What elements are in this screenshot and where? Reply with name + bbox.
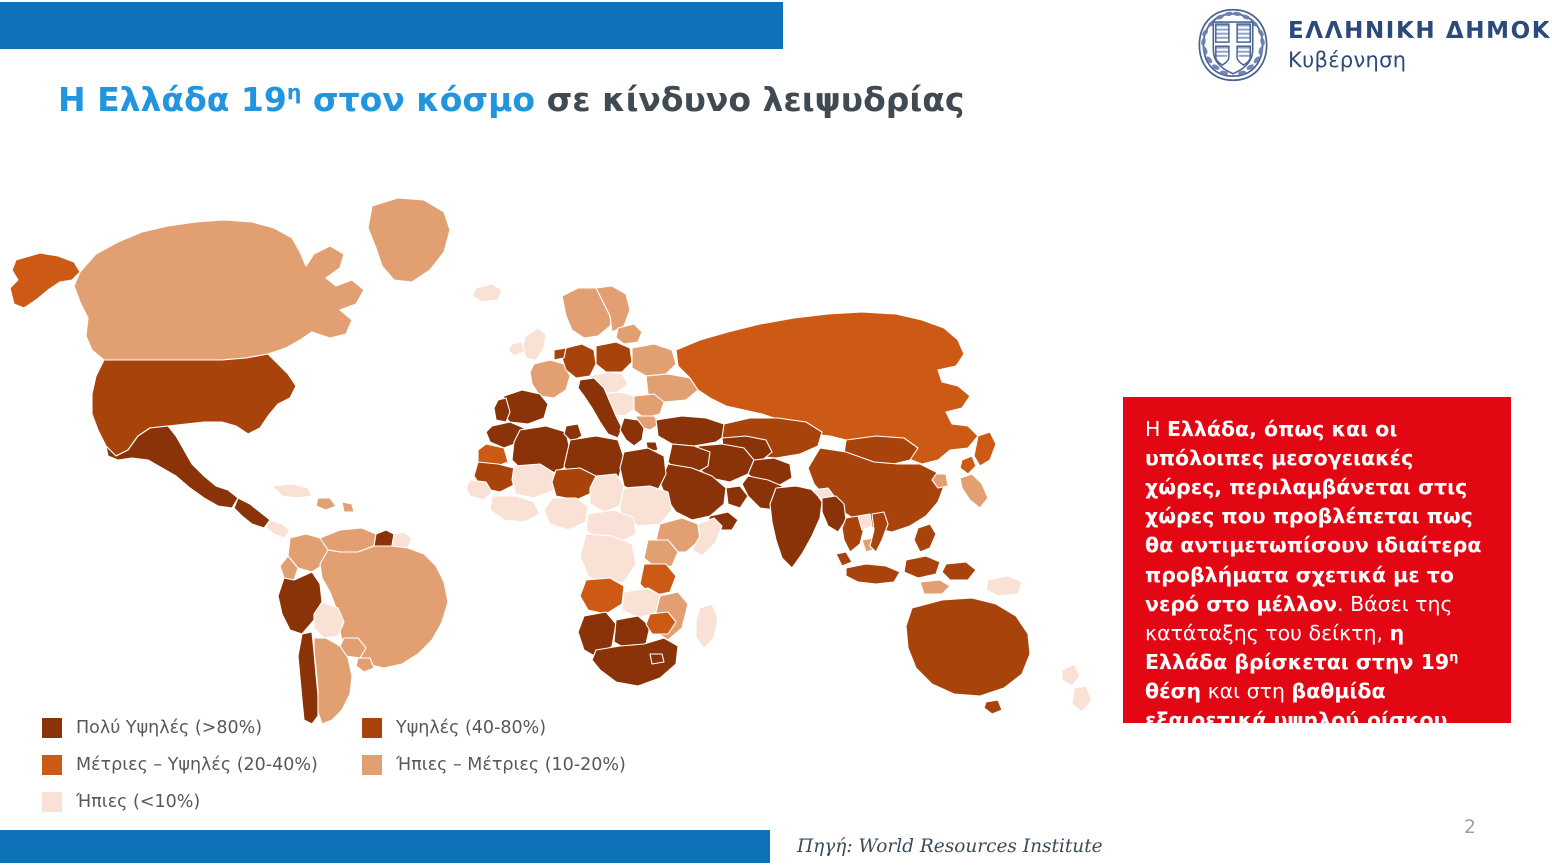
page-title-rest: σε κίνδυνο λειψυδρίας bbox=[535, 80, 964, 119]
legend-swatch-medium-high bbox=[42, 755, 62, 775]
legend-swatch-low-medium bbox=[362, 755, 382, 775]
legend-row: Ήπιες (<10%) bbox=[42, 792, 682, 812]
logo-subtitle: Κυβέρνηση bbox=[1288, 49, 1552, 72]
page-title-highlight: Η Ελλάδα 19η στον κόσμο bbox=[58, 80, 535, 119]
legend-row: Μέτριες – Υψηλές (20-40%) Ήπιες – Μέτριε… bbox=[42, 755, 682, 775]
header-accent-bar bbox=[0, 2, 783, 49]
callout-text: Η Ελλάδα, όπως και οι υπόλοιπες μεσογεια… bbox=[1145, 415, 1489, 723]
page-number: 2 bbox=[1464, 816, 1476, 838]
legend-label-high: Υψηλές (40-80%) bbox=[396, 718, 546, 738]
source-caption: Πηγή: World Resources Institute bbox=[797, 836, 1103, 857]
greek-republic-emblem-icon bbox=[1192, 4, 1274, 86]
slide: ΕΛΛΗΝΙΚΗ ΔΗΜΟΚΡΑΤΙΑ Κυβέρνηση Η Ελλάδα 1… bbox=[0, 0, 1552, 866]
map-legend: Πολύ Υψηλές (>80%) Υψηλές (40-80%) Μέτρι… bbox=[42, 718, 682, 829]
legend-swatch-very-high bbox=[42, 718, 62, 738]
legend-item-very-high: Πολύ Υψηλές (>80%) bbox=[42, 718, 362, 738]
legend-label-low: Ήπιες (<10%) bbox=[76, 792, 200, 812]
legend-label-medium-high: Μέτριες – Υψηλές (20-40%) bbox=[76, 755, 318, 775]
callout-seg-4: και στη bbox=[1201, 679, 1291, 703]
legend-label-low-medium: Ήπιες – Μέτριες (10-20%) bbox=[396, 755, 626, 775]
legend-swatch-low bbox=[42, 792, 62, 812]
callout-seg-1: Ελλάδα, όπως και οι υπόλοιπες μεσογειακέ… bbox=[1145, 417, 1481, 616]
legend-item-low: Ήπιες (<10%) bbox=[42, 792, 362, 812]
inset-map-svg bbox=[1123, 175, 1511, 403]
page-title: Η Ελλάδα 19η στον κόσμο σε κίνδυνο λειψυ… bbox=[58, 80, 964, 119]
logo-title: ΕΛΛΗΝΙΚΗ ΔΗΜΟΚΡΑΤΙΑ bbox=[1288, 19, 1552, 44]
title-ordinal-suffix: η bbox=[287, 80, 302, 104]
footer-accent-bar bbox=[0, 830, 770, 863]
legend-item-low-medium: Ήπιες – Μέτριες (10-20%) bbox=[362, 755, 626, 775]
callout-seg-0: Η bbox=[1145, 417, 1167, 441]
mediterranean-inset-panel: Η Ελλάδα, όπως και οι υπόλοιπες μεσογεια… bbox=[1123, 175, 1511, 723]
legend-label-very-high: Πολύ Υψηλές (>80%) bbox=[76, 718, 262, 738]
world-map-svg: .vh{fill:#8A3309;} .hi{fill:#A9430C;} .m… bbox=[0, 168, 1130, 728]
government-logo: ΕΛΛΗΝΙΚΗ ΔΗΜΟΚΡΑΤΙΑ Κυβέρνηση bbox=[1192, 4, 1552, 86]
legend-swatch-high bbox=[362, 718, 382, 738]
mediterranean-inset-map bbox=[1123, 175, 1511, 403]
legend-item-medium-high: Μέτριες – Υψηλές (20-40%) bbox=[42, 755, 362, 775]
legend-item-high: Υψηλές (40-80%) bbox=[362, 718, 546, 738]
greece-callout-box: Η Ελλάδα, όπως και οι υπόλοιπες μεσογεια… bbox=[1123, 397, 1511, 723]
callout-seg-6: . bbox=[1447, 708, 1454, 723]
legend-row: Πολύ Υψηλές (>80%) Υψηλές (40-80%) bbox=[42, 718, 682, 738]
world-choropleth-map: .vh{fill:#8A3309;} .hi{fill:#A9430C;} .m… bbox=[0, 168, 1130, 728]
